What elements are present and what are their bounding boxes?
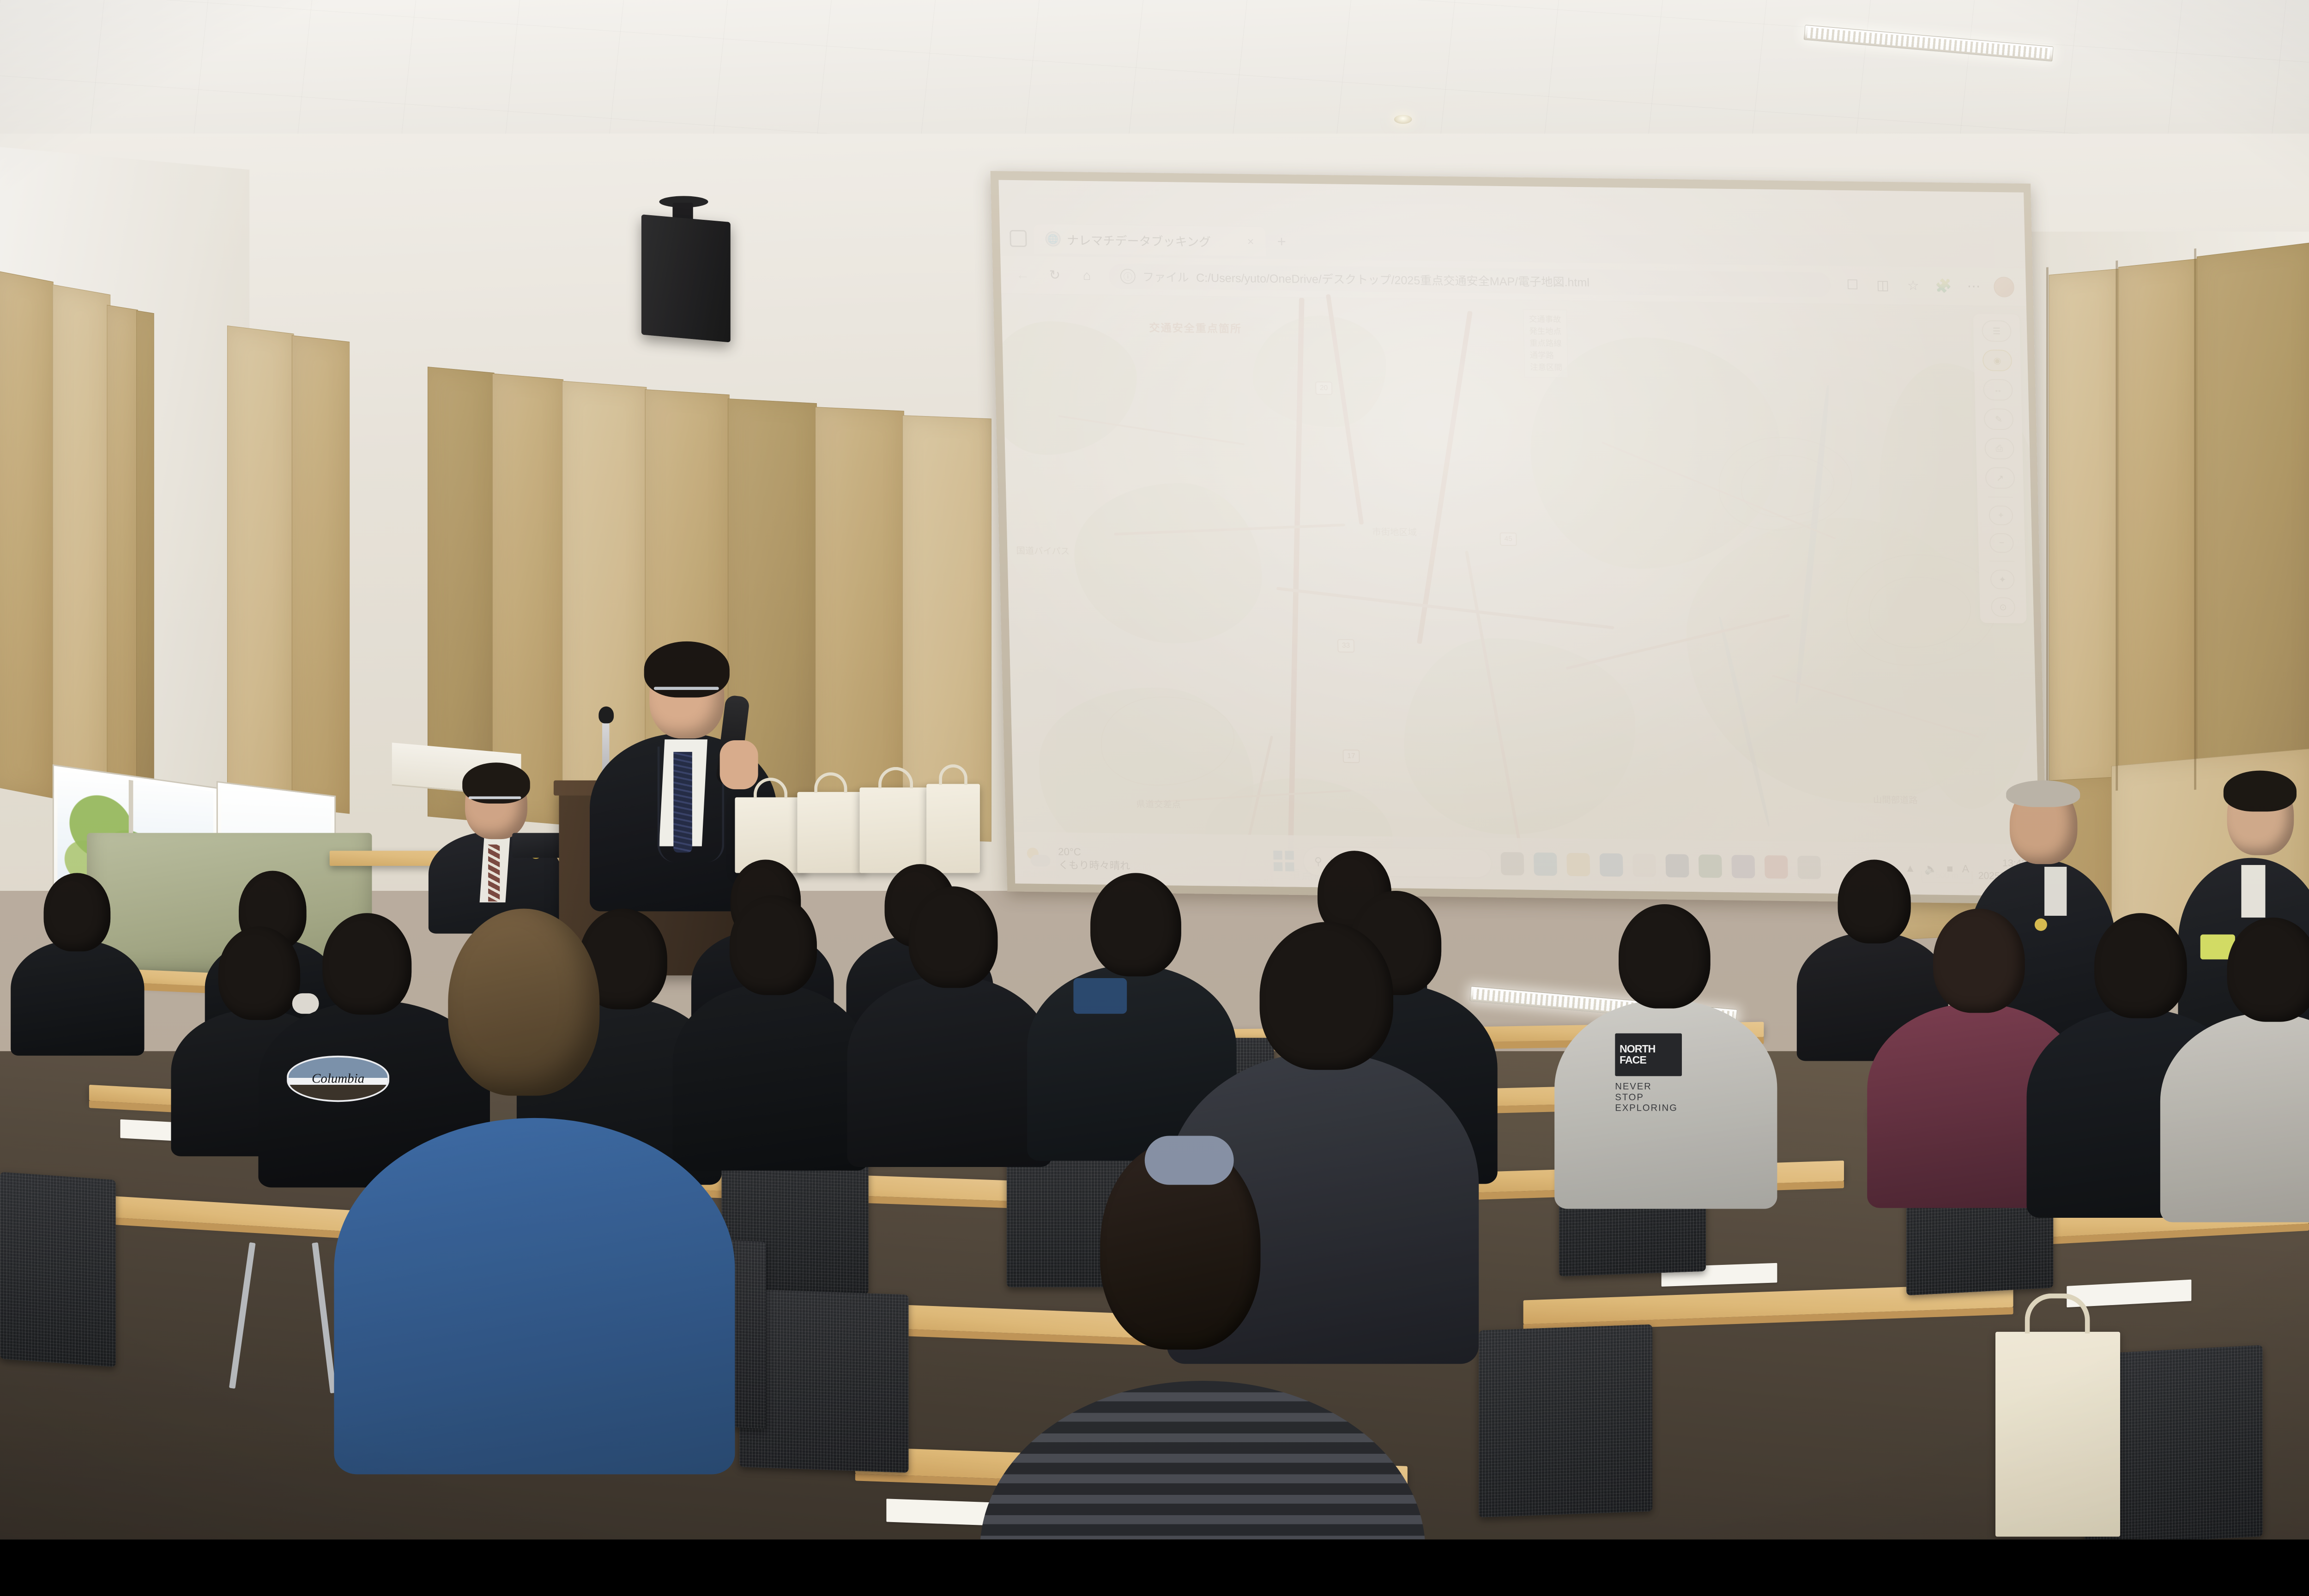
head [44, 873, 111, 951]
compass-tool-icon[interactable]: ✦ [1990, 569, 2015, 589]
wood-acoustic-panel [227, 326, 294, 810]
bag-handle [2025, 1294, 2090, 1334]
wood-acoustic-panel [53, 284, 110, 803]
head [1090, 873, 1181, 976]
head [730, 895, 817, 995]
head [1838, 859, 1911, 943]
home-icon[interactable]: ⌂ [1076, 265, 1097, 286]
draw-tool-icon[interactable]: ✎ [1984, 408, 2014, 430]
lapel-pin [2035, 919, 2047, 931]
word-icon[interactable] [1665, 854, 1689, 877]
mail-icon[interactable] [1599, 853, 1623, 877]
weather-text: 20°C くもり時々晴れ [1058, 845, 1130, 872]
wood-acoustic-panel [0, 271, 54, 798]
battery-icon[interactable]: ■ [1946, 863, 1953, 875]
presenter-hand [720, 740, 758, 789]
paper-gift-bag [797, 792, 864, 873]
zoom-out-tool-icon[interactable]: − [1989, 533, 2014, 553]
ceiling-speaker [641, 214, 731, 342]
marker-tool-icon[interactable]: ◉ [1983, 350, 2013, 371]
landcover-forest [998, 320, 1139, 456]
browser-tab[interactable]: 🌐 ナレマチデータブッキング × [1034, 224, 1266, 256]
wood-acoustic-panel [107, 305, 138, 809]
canvas-tote-bag [1995, 1332, 2120, 1537]
lanyard [658, 747, 725, 863]
projected-desktop: 🌐 ナレマチデータブッキング × + ← ↻ ⌂ ⓘ ファイル C:/Users… [998, 180, 2040, 896]
weather-desc: くもり時々晴れ [1058, 859, 1130, 871]
road-minor [1276, 587, 1614, 629]
dress-shirt [2241, 865, 2265, 918]
windows-start-icon[interactable] [1273, 851, 1294, 871]
address-scheme-label: ファイル [1142, 268, 1189, 285]
route-shield: 33 [1337, 639, 1354, 653]
settings-icon[interactable]: ⋯ [1963, 276, 1984, 297]
search-icon: ⚲ [1314, 855, 1323, 868]
close-icon[interactable]: × [1235, 234, 1254, 248]
excel-icon[interactable] [1698, 854, 1722, 878]
partly-cloudy-icon [1026, 846, 1052, 869]
projection-screen: 🌐 ナレマチデータブッキング × + ← ↻ ⌂ ⓘ ファイル C:/Users… [998, 180, 2040, 896]
browser-actions: ☐ ◫ ☆ 🧩 ⋯ [1842, 275, 2015, 297]
head [322, 913, 411, 1015]
face-mask [292, 993, 319, 1014]
landcover-forest [1402, 637, 1638, 836]
shoulders [1554, 999, 1777, 1209]
address-path: C:/Users/yuto/OneDrive/デスクトップ/2025重点交通安全… [1196, 269, 1590, 290]
hair-scrunchie [1145, 1136, 1234, 1185]
back-icon[interactable]: ← [1012, 265, 1033, 285]
head [448, 909, 599, 1096]
zoom-in-tool-icon[interactable]: + [1989, 505, 2013, 525]
layers-tool-icon[interactable]: ☰ [1982, 320, 2012, 342]
map-tool-rail: ☰ ◉ ↔ ✎ ⎙ ↗ + − ✦ ⊙ [1973, 314, 2026, 623]
route-shield: 20 [1315, 381, 1332, 395]
tab-title: ナレマチデータブッキング [1067, 230, 1211, 249]
collections-icon[interactable]: ☐ [1842, 275, 1863, 296]
globe-icon: 🌐 [1045, 231, 1061, 247]
recessed-downlight [1394, 115, 1412, 124]
map-legend: 交通事故発生地点重点路線通学路注意区間 [1523, 309, 1568, 378]
dress-shirt [2044, 867, 2067, 916]
share-tool-icon[interactable]: ↗ [1985, 467, 2015, 489]
wood-acoustic-panel [136, 310, 154, 808]
route-shield: 45 [1499, 532, 1517, 546]
split-screen-icon[interactable]: ◫ [1872, 275, 1893, 296]
eyeglasses [469, 797, 521, 799]
hair [2006, 780, 2080, 807]
wood-acoustic-panel [292, 335, 350, 814]
hair [2224, 771, 2297, 812]
ime-icon[interactable]: A [1962, 863, 1969, 876]
teams-icon[interactable] [1731, 855, 1755, 878]
weather-widget[interactable]: 20°C くもり時々晴れ [1014, 844, 1206, 874]
divider [1989, 561, 2014, 562]
favorites-icon[interactable]: ☆ [1903, 275, 1923, 296]
head [218, 926, 300, 1020]
wood-acoustic-panel [2118, 259, 2199, 792]
shoulders [672, 984, 868, 1171]
shoulders [334, 1118, 735, 1475]
store-icon[interactable] [1632, 854, 1656, 877]
head [2094, 913, 2187, 1018]
head [1933, 909, 2025, 1013]
head [1260, 922, 1393, 1070]
mesh-back-chair[interactable] [1479, 1324, 1652, 1517]
edge-icon[interactable] [1533, 852, 1557, 876]
road-major [1417, 311, 1473, 644]
paper-gift-bag [859, 787, 931, 873]
locate-tool-icon[interactable]: ⊙ [1991, 597, 2015, 617]
explorer-icon[interactable] [1566, 853, 1590, 877]
reload-icon[interactable]: ↻ [1044, 265, 1065, 286]
file-info-icon: ⓘ [1120, 268, 1136, 284]
landcover-forest [1073, 482, 1264, 644]
measure-tool-icon[interactable]: ↔ [1983, 379, 2013, 401]
extensions-icon[interactable]: 🧩 [1933, 276, 1954, 296]
user-avatar[interactable] [1994, 277, 2014, 297]
taskbar-center: ⚲ 検索 [1206, 846, 1888, 882]
landcover-forest [1251, 315, 1388, 428]
wood-acoustic-panel [2049, 269, 2120, 792]
head [909, 886, 998, 988]
panel-seam [2116, 260, 2118, 791]
panel-seam [2046, 267, 2049, 793]
divider [1988, 496, 2013, 498]
map-canvas[interactable]: 20 33 17 45 交通安全重点箇所 国道バイパス 市街地区域 県道交差点 … [1001, 294, 2040, 896]
chrome-icon[interactable] [1764, 855, 1788, 879]
map-heading-label: 交通安全重点箇所 [1149, 319, 1242, 336]
map-place-label: 市街地区域 [1372, 525, 1417, 538]
weather-temp: 20°C [1058, 846, 1081, 858]
route-shield: 17 [1342, 750, 1360, 763]
mesh-back-chair[interactable] [0, 1172, 116, 1367]
goose-mic-head [598, 707, 614, 724]
network-icon[interactable]: ▲ [1905, 862, 1916, 875]
address-bar[interactable]: ⓘ ファイル C:/Users/yuto/OneDrive/デスクトップ/202… [1108, 263, 1831, 297]
head [1619, 904, 1711, 1009]
print-tool-icon[interactable]: ⎙ [1984, 438, 2014, 459]
paper-gift-bag [926, 784, 980, 873]
shoulders [11, 940, 144, 1056]
wood-acoustic-panel [2197, 242, 2309, 796]
shirt-graphic [1073, 978, 1127, 1014]
shoulders [847, 975, 1052, 1167]
settings-icon[interactable] [1797, 856, 1821, 879]
striped-tie [488, 845, 500, 901]
map-place-label: 山間部道路 [1873, 792, 1918, 806]
head [2227, 918, 2309, 1022]
lecture-hall-scene: 🌐 ナレマチデータブッキング × + ← ↻ ⌂ ⓘ ファイル C:/Users… [0, 0, 2309, 1539]
tab-list-icon[interactable] [1009, 230, 1027, 247]
new-tab-icon[interactable]: + [1268, 233, 1295, 250]
volume-icon[interactable]: 🔈 [1924, 862, 1938, 875]
eyeglasses [654, 687, 719, 690]
map-place-label: 国道バイパス [1016, 544, 1070, 557]
map-place-label: 県道交差点 [1136, 797, 1181, 810]
panel-seam [2194, 248, 2196, 790]
widgets-icon[interactable] [1500, 852, 1524, 876]
screen-surface: 🌐 ナレマチデータブッキング × + ← ↻ ⌂ ⓘ ファイル C:/Users… [998, 180, 2040, 896]
